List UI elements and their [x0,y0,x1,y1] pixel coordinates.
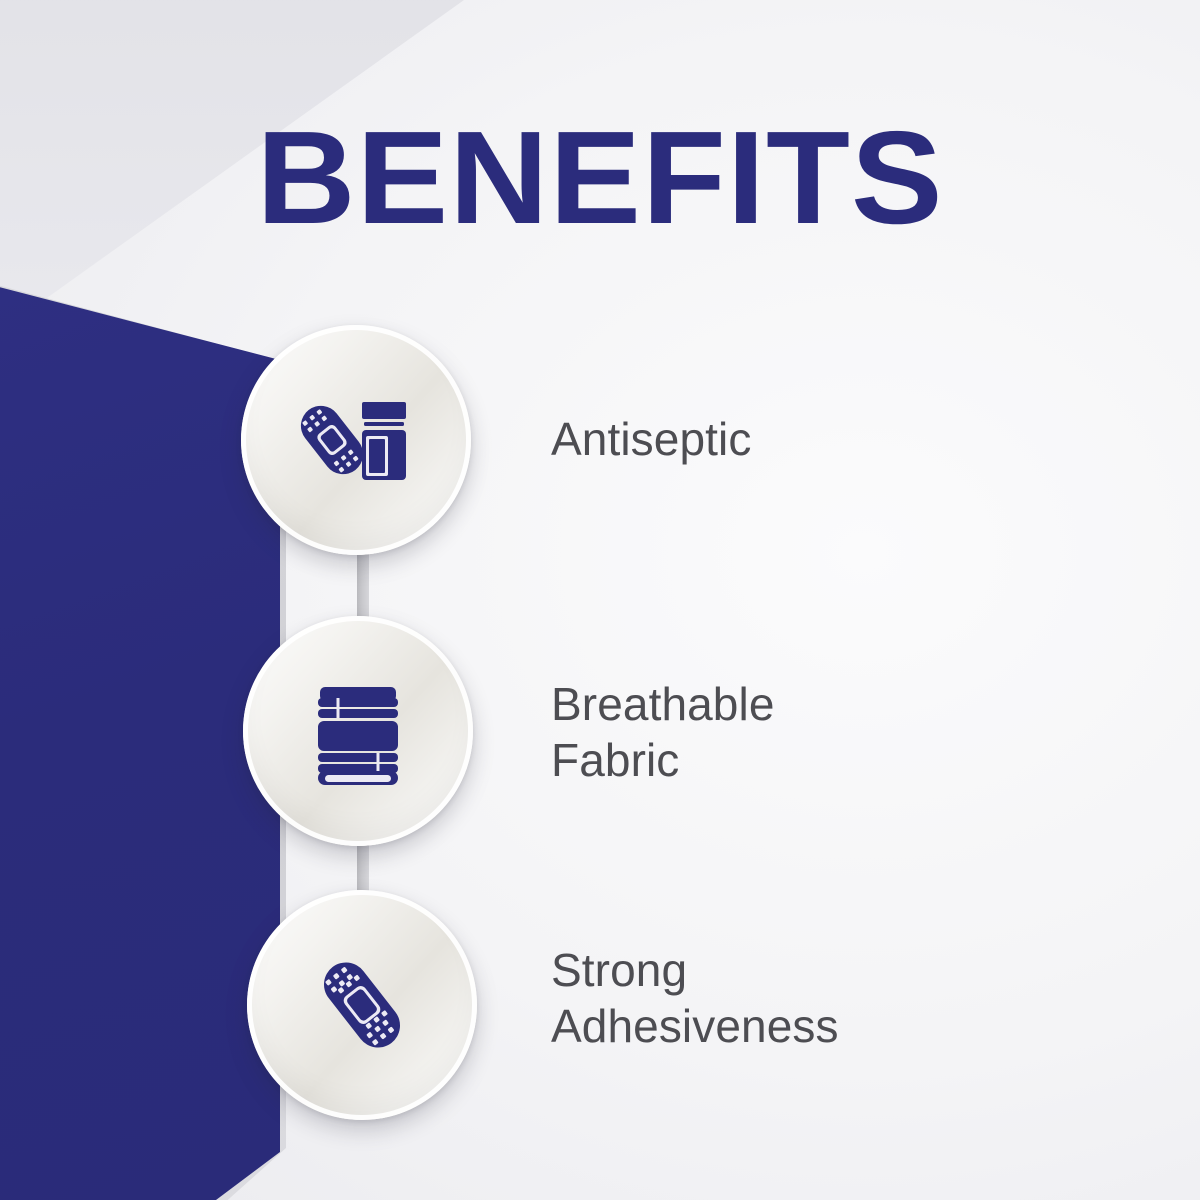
folded-fabric-stack-icon [298,671,418,791]
benefit-badge-breathable-fabric[interactable] [243,616,473,846]
benefit-label-strong-adhesiveness: Strong Adhesiveness [551,942,839,1054]
bandage-and-antiseptic-bottle-icon [296,380,416,500]
benefits-poster: BENEFITS [0,0,1200,1200]
benefit-badge-antiseptic[interactable] [241,325,471,555]
navy-panel [0,276,282,1200]
page-title: BENEFITS [0,112,1200,244]
benefit-badge-strong-adhesiveness[interactable] [247,890,477,1120]
benefit-label-antiseptic: Antiseptic [551,411,751,467]
adhesive-bandage-icon [302,945,422,1065]
benefit-label-breathable-fabric: Breathable Fabric [551,676,775,788]
